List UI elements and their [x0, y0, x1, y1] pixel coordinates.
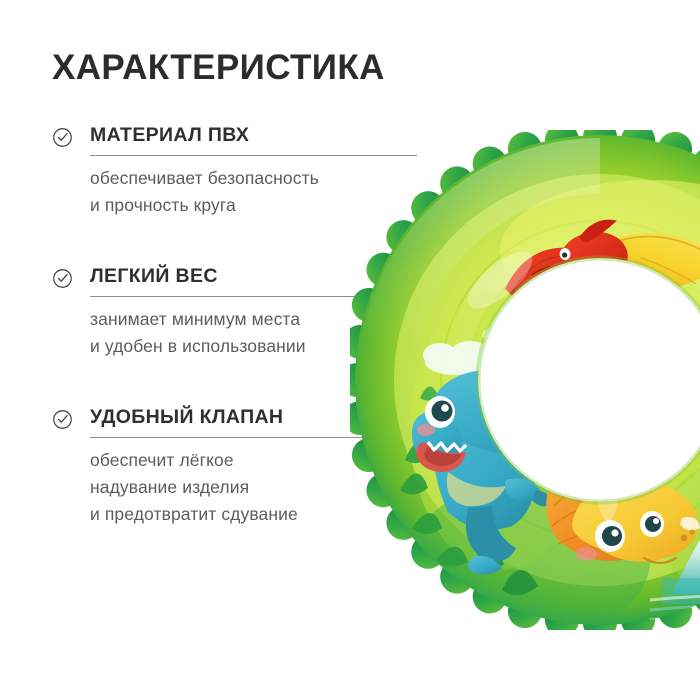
swim-ring-graphic: H Bo [350, 130, 700, 630]
trex-eye [425, 396, 455, 428]
check-circle-icon [52, 268, 73, 289]
check-circle-icon [52, 127, 73, 148]
check-circle-icon [52, 409, 73, 430]
product-feature-card: ХАРАКТЕРИСТИКА МАТЕРИАЛ ПВХ обеспечивает… [0, 0, 700, 700]
inflatable-swim-ring: H Bo [350, 130, 700, 630]
page-title: ХАРАКТЕРИСТИКА [52, 46, 432, 90]
product-image: H Bo [400, 120, 700, 640]
